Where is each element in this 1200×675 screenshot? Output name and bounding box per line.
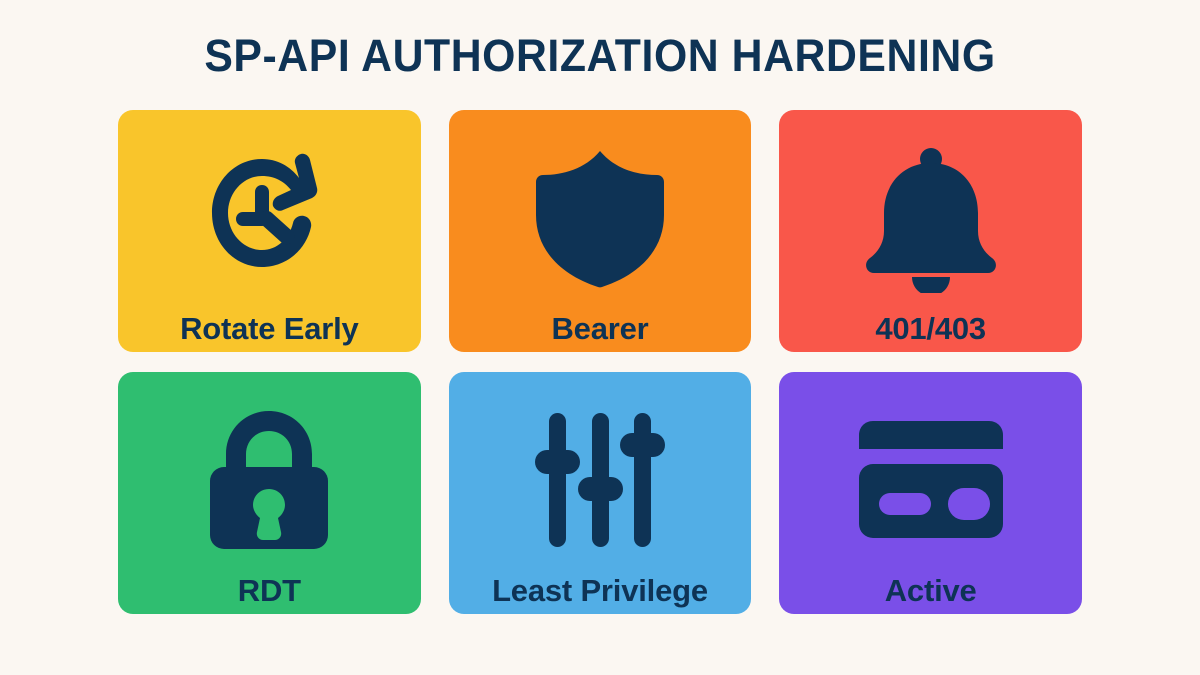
card-label: Bearer [449,312,752,346]
card-label: Active [779,574,1082,608]
card-label: 401/403 [779,312,1082,346]
card-label: Rotate Early [118,312,421,346]
card-grid: Rotate Early Bearer [118,110,1082,614]
card-401-403[interactable]: 401/403 [779,110,1082,352]
poster-canvas: SP-API AUTHORIZATION HARDENING Rotate Ea… [0,0,1200,675]
bell-icon [779,138,1082,298]
shield-icon [449,138,752,298]
card-label: RDT [118,574,421,608]
page-title: SP-API AUTHORIZATION HARDENING [30,28,1170,84]
card-least-privilege[interactable]: Least Privilege [449,372,752,614]
card-rdt[interactable]: RDT [118,372,421,614]
credit-card-icon [779,400,1082,560]
lock-icon [118,400,421,560]
card-rotate-early[interactable]: Rotate Early [118,110,421,352]
clock-rotate-icon [118,138,421,298]
card-label: Least Privilege [449,574,752,608]
sliders-icon [449,400,752,560]
card-active[interactable]: Active [779,372,1082,614]
card-bearer[interactable]: Bearer [449,110,752,352]
